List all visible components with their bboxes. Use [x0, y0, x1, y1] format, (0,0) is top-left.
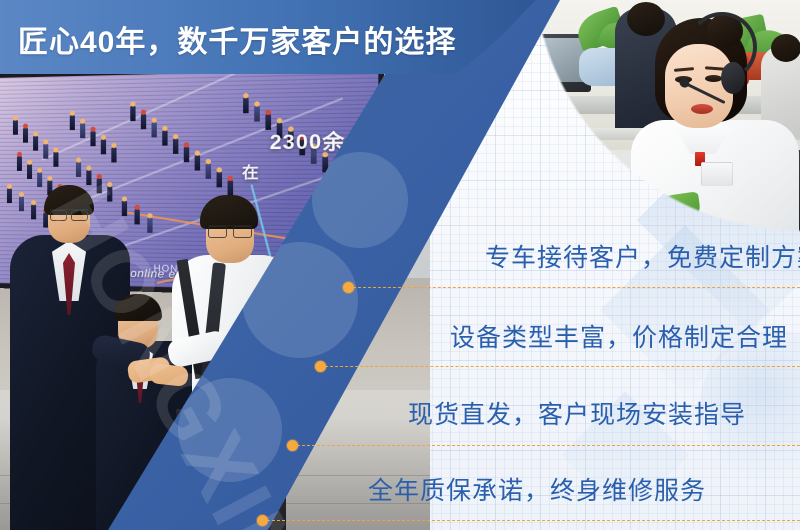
- agent-lips: [691, 104, 713, 114]
- feature-separator-2: [320, 366, 800, 367]
- page-title: 匠心40年，数千万家客户的选择: [18, 17, 456, 61]
- headset-earcup-icon: [721, 62, 745, 94]
- led-screen-english-2: HON: [154, 263, 179, 274]
- feature-bullet-dot-3: [287, 440, 298, 451]
- led-screen-subtext: 在: [242, 161, 259, 183]
- promo-banner: 2300余人 在 online employ HON: [0, 0, 800, 530]
- handshake-hand-right: [149, 363, 189, 387]
- feature-bullet-dot-1: [343, 282, 354, 293]
- feature-item-4-label: 全年质保承诺，终身维修服务: [368, 471, 706, 507]
- photo-call-center: [535, 0, 800, 232]
- led-screen-headline: 2300余人: [270, 126, 369, 156]
- feature-bullet-dot-2: [315, 361, 326, 372]
- feature-list: 专车接待客户，免费定制方案 设备类型丰富，价格制定合理 现货直发，客户现场安装指…: [330, 215, 800, 530]
- feature-separator-1: [348, 287, 800, 288]
- person-right-belt: [176, 409, 284, 422]
- feature-separator-3: [292, 445, 800, 446]
- agent-name-badge: [701, 162, 733, 186]
- feature-item-3-label: 现货直发，客户现场安装指导: [408, 395, 746, 431]
- person-right-trousers: [174, 419, 286, 530]
- feature-item-2-label: 设备类型丰富，价格制定合理: [450, 318, 788, 354]
- feature-item-1-label: 专车接待客户，免费定制方案: [485, 238, 800, 274]
- feature-bullet-dot-4: [257, 515, 268, 526]
- person-right-glasses: [208, 225, 252, 236]
- background-colleague-head: [627, 2, 665, 36]
- feature-separator-4: [262, 520, 800, 521]
- background-colleague-2-head: [771, 34, 800, 62]
- person-left-glasses: [50, 209, 88, 219]
